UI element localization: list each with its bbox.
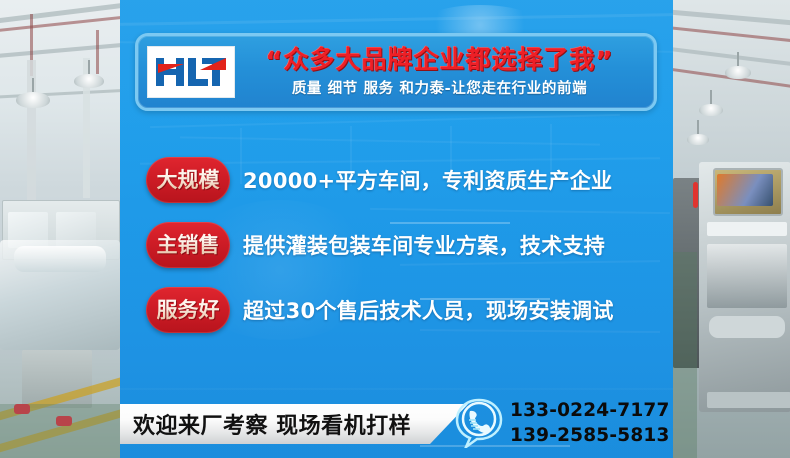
phone-bubble-icon [455,398,503,448]
brand-logo-box [147,46,235,98]
factory-photo-left [0,0,120,458]
feature-badge-label: 服务好 [157,287,220,333]
feature-badge: 服务好 [146,287,230,333]
feature-row: 服务好 超过30个售后技术人员，现场安装调试 [146,285,663,335]
phone-secondary: 139-2585-5813 [510,423,670,448]
packaging-machine-photo-right [673,0,790,458]
feature-description: 超过30个售后技术人员，现场安装调试 [243,295,614,325]
feature-description: 20000+平方车间，专利资质生产企业 [243,165,612,195]
header-card: “众多大品牌企业都选择了我” 质量 细节 服务 和力泰-让您走在行业的前端 [135,33,657,111]
subline: 质量 细节 服务 和力泰-让您走在行业的前端 [231,78,648,100]
feature-list: 大规模 20000+平方车间，专利资质生产企业 主销售 提供灌装包装车间专业方案… [146,155,663,350]
feature-row: 大规模 20000+平方车间，专利资质生产企业 [146,155,663,205]
hlt-logo-icon [154,54,228,90]
headline: “众多大品牌企业都选择了我” [231,45,648,77]
feature-badge-label: 大规模 [157,157,220,203]
feature-badge: 大规模 [146,157,230,203]
cta-bar: 欢迎来厂考察 现场看机打样 [120,404,468,444]
open-quote: “ [265,47,283,77]
cta-text: 欢迎来厂考察 现场看机打样 [133,408,411,440]
feature-description: 提供灌装包装车间专业方案，技术支持 [243,230,605,260]
phone-primary: 133-0224-7177 [510,398,670,423]
blue-overlay-panel: “众多大品牌企业都选择了我” 质量 细节 服务 和力泰-让您走在行业的前端 大规… [120,0,673,458]
feature-row: 主销售 提供灌装包装车间专业方案，技术支持 [146,220,663,270]
feature-badge-label: 主销售 [157,222,220,268]
phone-block: 133-0224-7177 139-2585-5813 [455,398,670,448]
headline-text: 众多大品牌企业都选择了我 [283,45,595,74]
header-text-block: “众多大品牌企业都选择了我” 质量 细节 服务 和力泰-让您走在行业的前端 [231,45,654,100]
feature-badge: 主销售 [146,222,230,268]
close-quote: ” [596,47,614,77]
footer-row: 欢迎来厂考察 现场看机打样 133-0224-7177 139 [120,404,673,444]
phone-numbers: 133-0224-7177 139-2585-5813 [510,398,670,448]
promo-banner: “众多大品牌企业都选择了我” 质量 细节 服务 和力泰-让您走在行业的前端 大规… [0,0,790,458]
